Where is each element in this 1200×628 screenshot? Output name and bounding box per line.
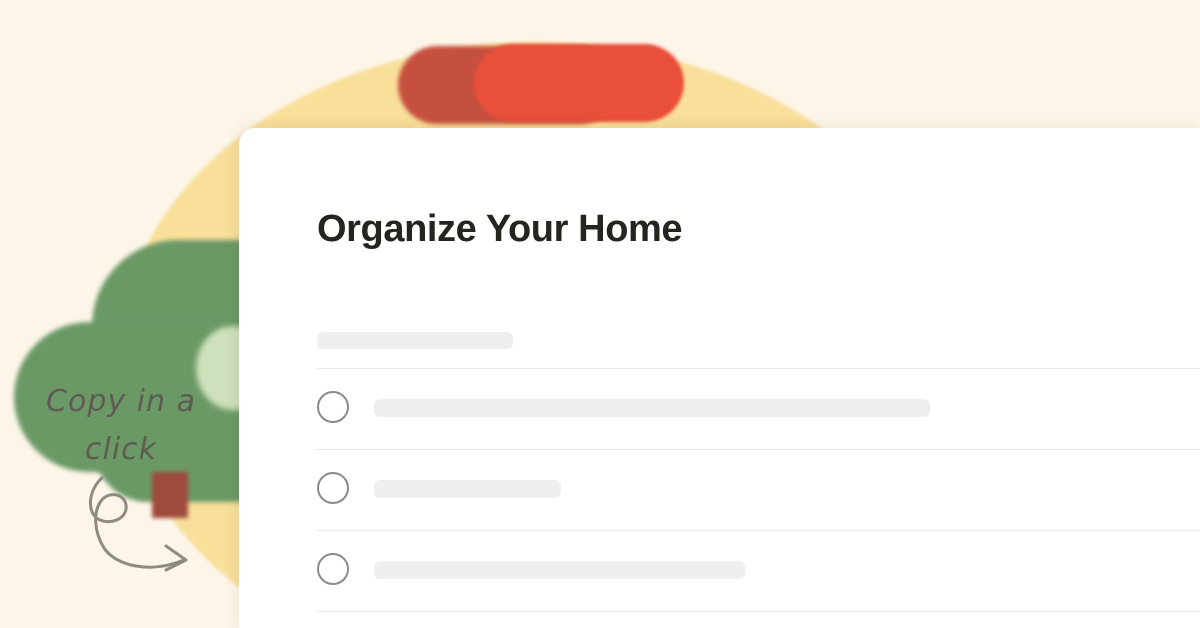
task-list <box>317 368 1200 612</box>
task-row[interactable] <box>317 530 1200 612</box>
task-row[interactable] <box>317 368 1200 449</box>
annotation-line-1: Copy in a <box>46 384 196 419</box>
curly-arrow-icon <box>82 474 222 586</box>
red-front-shape <box>474 44 684 122</box>
handwritten-annotation: Copy in a click <box>8 378 234 474</box>
task-label-skeleton <box>374 561 745 579</box>
task-checkbox-circle-icon[interactable] <box>317 391 349 423</box>
page-title: Organize Your Home <box>317 207 682 251</box>
task-row[interactable] <box>317 449 1200 530</box>
checklist-card: Organize Your Home <box>239 128 1200 628</box>
task-checkbox-circle-icon[interactable] <box>317 472 349 504</box>
task-checkbox-circle-icon[interactable] <box>317 553 349 585</box>
task-label-skeleton <box>374 399 930 417</box>
task-label-skeleton <box>374 480 561 498</box>
promo-graphic: Copy in a click Organize Your Home <box>0 0 1200 628</box>
section-label-skeleton <box>317 332 513 349</box>
annotation-line-2: click <box>8 426 234 474</box>
